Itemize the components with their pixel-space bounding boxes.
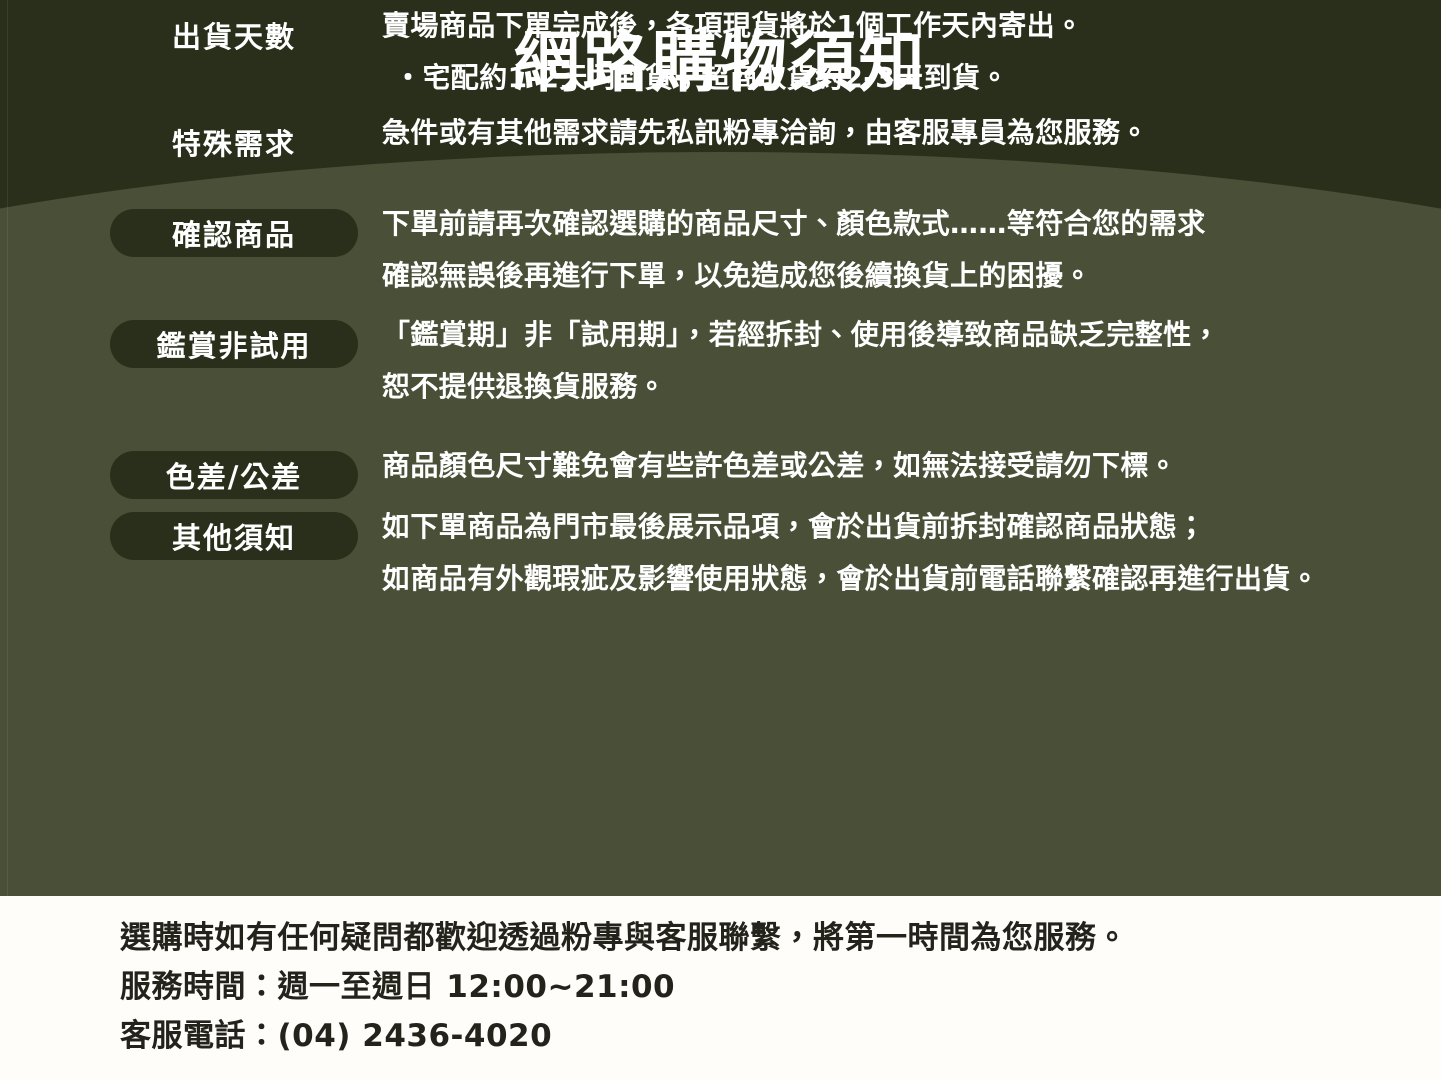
footer-text-block: 選購時如有任何疑問都歡迎透過粉專與客服聯繫，將第一時間為您服務。 服務時間：週一… [120,914,1128,1061]
body-line: 如商品有外觀瑕疵及影響使用狀態，會於出貨前電話聯繫確認再進行出貨。 [382,553,1412,605]
badge-label: 確認商品 [172,212,296,254]
poster-root: 網路購物須知 出貨天數 賣場商品下單完成後，各項現貨將於1個工作天內寄出。 ・宅… [0,0,1441,1080]
footer-line-service-phone: 客服電話：(04) 2436-4020 [120,1012,1128,1061]
body-line: 確認無誤後再進行下單，以免造成您後續換貨上的困擾。 [382,250,1412,302]
badge-label: 其他須知 [172,515,296,557]
section-body-color-size-tolerance: 商品顏色尺寸難免會有些許色差或公差，如無法接受請勿下標。 [382,440,1412,492]
body-line: 商品顏色尺寸難免會有些許色差或公差，如無法接受請勿下標。 [382,440,1412,492]
body-line: 賣場商品下單完成後，各項現貨將於1個工作天內寄出。 [382,0,1412,52]
upper-panel: 網路購物須知 出貨天數 賣場商品下單完成後，各項現貨將於1個工作天內寄出。 ・宅… [0,0,1441,896]
section-body-shipping-days: 賣場商品下單完成後，各項現貨將於1個工作天內寄出。 ・宅配約1-2天內到貨；超商… [382,0,1412,104]
section-body-confirm-product: 下單前請再次確認選購的商品尺寸、顏色款式……等符合您的需求 確認無誤後再進行下單… [382,198,1412,302]
body-line: 「鑑賞期」非「試用期」，若經拆封、使用後導致商品缺乏完整性， [382,309,1412,361]
footer-line-service-invitation: 選購時如有任何疑問都歡迎透過粉專與客服聯繫，將第一時間為您服務。 [120,914,1128,963]
body-line: 下單前請再次確認選購的商品尺寸、顏色款式……等符合您的需求 [382,198,1412,250]
badge-label: 特殊需求 [172,121,296,163]
section-badge-shipping-days: 出貨天數 [110,11,358,59]
badge-label: 鑑賞非試用 [156,323,311,365]
badge-label: 出貨天數 [172,14,296,56]
section-badge-special-requests: 特殊需求 [110,118,358,166]
section-badge-color-size-tolerance: 色差/公差 [110,451,358,499]
body-line: ・宅配約1-2天內到貨；超商取貨約2-3天到貨。 [382,52,1412,104]
section-body-special-requests: 急件或有其他需求請先私訊粉專洽詢，由客服專員為您服務。 [382,107,1412,159]
section-body-inspection-not-trial: 「鑑賞期」非「試用期」，若經拆封、使用後導致商品缺乏完整性， 恕不提供退換貨服務… [382,309,1412,413]
section-badge-confirm-product: 確認商品 [110,209,358,257]
body-line: 如下單商品為門市最後展示品項，會於出貨前拆封確認商品狀態； [382,501,1412,553]
body-line: 恕不提供退換貨服務。 [382,361,1412,413]
section-badge-other-notes: 其他須知 [110,512,358,560]
footer-line-service-hours: 服務時間：週一至週日 12:00~21:00 [120,963,1128,1012]
section-badge-inspection-not-trial: 鑑賞非試用 [110,320,358,368]
section-body-other-notes: 如下單商品為門市最後展示品項，會於出貨前拆封確認商品狀態； 如商品有外觀瑕疵及影… [382,501,1412,605]
badge-label: 色差/公差 [166,454,303,496]
body-line: 急件或有其他需求請先私訊粉專洽詢，由客服專員為您服務。 [382,107,1412,159]
footer-contact-panel: 選購時如有任何疑問都歡迎透過粉專與客服聯繫，將第一時間為您服務。 服務時間：週一… [0,896,1441,1080]
left-edge-line-decoration [7,0,8,896]
